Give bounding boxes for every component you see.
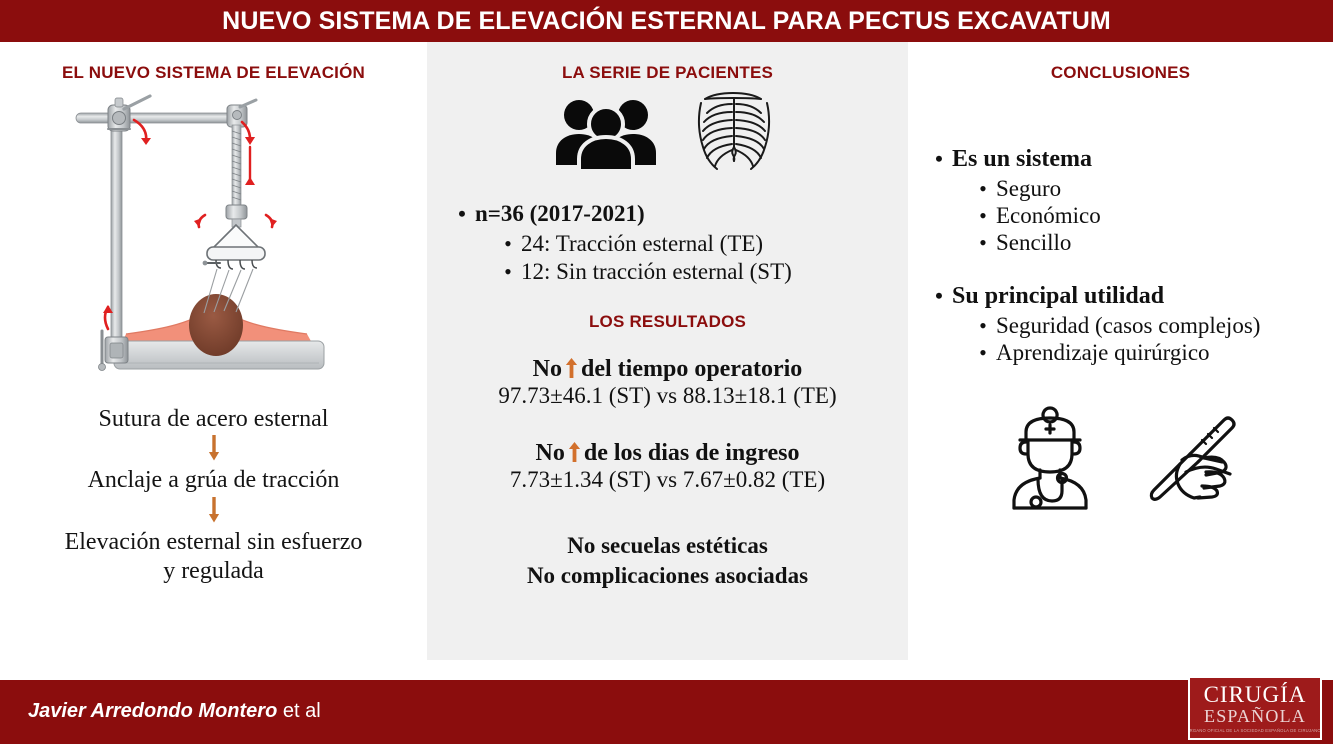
result-block-operative-time: No del tiempo operatorio 97.73±46.1 (ST)… — [427, 356, 908, 410]
result-block-admission-days: No de los dias de ingreso 7.73±1.34 (ST)… — [427, 440, 908, 494]
footer-author: Javier Arredondo Montero et al — [28, 700, 321, 723]
flow-step-2: Anclaje a grúa de tracción — [0, 466, 427, 495]
center-column-heading: LA SERIE DE PACIENTES — [427, 63, 908, 83]
conclusion-level1: • Su principal utilidad — [926, 283, 1333, 310]
series-bullet-level2: • 12: Sin tracción esternal (ST) — [495, 259, 908, 285]
conclusion-level2: • Seguro — [970, 176, 1333, 202]
right-column-heading: CONCLUSIONES — [908, 63, 1333, 83]
author-suffix: et al — [277, 700, 320, 722]
result-suffix: del tiempo operatorio — [581, 356, 802, 382]
series-bullet-level1: • n=36 (2017-2021) — [449, 201, 908, 227]
result-suffix: de los dias de ingreso — [584, 440, 800, 466]
right-column: CONCLUSIONES • Es un sistema • Seguro • … — [908, 42, 1333, 660]
conclusion-level2-label: Seguro — [996, 176, 1061, 202]
series-bullet-level1-label: n=36 (2017-2021) — [475, 201, 645, 227]
logo-line-3: ÓRGANO OFICIAL DE LA SOCIEDAD ESPAÑOLA D… — [1188, 729, 1322, 733]
center-column: LA SERIE DE PACIENTES — [427, 42, 908, 660]
motion-arrows — [105, 120, 272, 329]
conclusion-level2: • Seguridad (casos complejos) — [970, 313, 1333, 339]
sternum-region — [189, 294, 243, 356]
bullet-dot-icon: • — [926, 148, 952, 170]
logo-line-2: ESPAÑOLA — [1204, 707, 1306, 727]
device-diagram-wrap — [0, 91, 427, 391]
logo-line-1: CIRUGÍA — [1204, 683, 1307, 706]
conclusion-level1-label: Su principal utilidad — [952, 283, 1164, 310]
flow-step-1: Sutura de acero esternal — [0, 405, 427, 434]
result-title: No del tiempo operatorio — [427, 356, 908, 382]
conclusion-level2: • Económico — [970, 203, 1333, 229]
flow-step-3-line-2: y regulada — [0, 557, 427, 586]
infographic-slide: NUEVO SISTEMA DE ELEVACIÓN ESTERNAL PARA… — [0, 0, 1333, 744]
surgeon-icon-row — [908, 406, 1333, 510]
bullet-dot-icon: • — [970, 205, 996, 227]
bullet-dot-icon: • — [970, 342, 996, 364]
up-arrow-icon — [564, 356, 579, 382]
bullet-dot-icon: • — [495, 261, 521, 283]
header-bar: NUEVO SISTEMA DE ELEVACIÓN ESTERNAL PARA… — [0, 0, 1333, 42]
result-prefix: No — [533, 356, 562, 382]
series-bullet-level2: • 24: Tracción esternal (TE) — [495, 231, 908, 257]
spreader-yoke — [212, 225, 260, 249]
center-icon-row — [427, 89, 908, 175]
conclusion-level2-label: Económico — [996, 203, 1101, 229]
flow-arrow-1-icon — [0, 435, 427, 465]
conclusion-level2-label: Aprendizaje quirúrgico — [996, 340, 1210, 366]
left-column: EL NUEVO SISTEMA DE ELEVACIÓN — [0, 42, 427, 660]
conclusion-group-1: • Es un sistema • Seguro • Económico • S… — [926, 146, 1333, 256]
hook-cleats — [216, 260, 257, 269]
spreader-bar — [207, 247, 265, 260]
bullet-dot-icon: • — [495, 233, 521, 255]
author-name: Javier Arredondo Montero — [28, 700, 277, 722]
series-bullet-level2-label: 12: Sin tracción esternal (ST) — [521, 259, 792, 285]
closing-line-2: No complicaciones asociadas — [427, 561, 908, 591]
flow-arrow-2-icon — [0, 497, 427, 527]
threaded-rod — [232, 125, 241, 207]
conclusion-level2: • Sencillo — [970, 230, 1333, 256]
conclusion-level2: • Aprendizaje quirúrgico — [970, 340, 1333, 366]
up-arrow-icon — [567, 440, 582, 466]
bullet-dot-icon: • — [970, 178, 996, 200]
flow-step-3-line-1: Elevación esternal sin esfuerzo — [0, 528, 427, 557]
series-bullet-level2-label: 24: Tracción esternal (TE) — [521, 231, 763, 257]
bullet-dot-icon: • — [970, 232, 996, 254]
sternal-elevation-crane-diagram — [64, 91, 364, 391]
result-values: 97.73±46.1 (ST) vs 88.13±18.1 (TE) — [427, 383, 908, 409]
conclusions-wrap: • Es un sistema • Seguro • Económico • S… — [908, 146, 1333, 366]
results-heading: LOS RESULTADOS — [427, 312, 908, 332]
patient-series-bullets: • n=36 (2017-2021) • 24: Tracción estern… — [427, 201, 908, 285]
conclusion-level1-label: Es un sistema — [952, 146, 1092, 173]
hand-scalpel-icon — [1132, 406, 1240, 510]
left-column-heading: EL NUEVO SISTEMA DE ELEVACIÓN — [0, 63, 427, 83]
conclusion-level2-label: Sencillo — [996, 230, 1071, 256]
horizontal-crossbar — [76, 113, 246, 123]
bullet-dot-icon: • — [926, 285, 952, 307]
conclusion-level2-label: Seguridad (casos complejos) — [996, 313, 1260, 339]
closing-line-1: No secuelas estéticas — [427, 531, 908, 561]
center-closing-block: No secuelas estéticas No complicaciones … — [427, 531, 908, 592]
rib-cage-icon — [685, 89, 785, 175]
journal-logo: CIRUGÍA ESPAÑOLA ÓRGANO OFICIAL DE LA SO… — [1188, 676, 1322, 740]
result-values: 7.73±1.34 (ST) vs 7.67±0.82 (TE) — [427, 467, 908, 493]
result-title: No de los dias de ingreso — [427, 440, 908, 466]
bullet-dot-icon: • — [449, 203, 475, 225]
conclusion-level1: • Es un sistema — [926, 146, 1333, 173]
bullet-dot-icon: • — [970, 315, 996, 337]
conclusion-group-2: • Su principal utilidad • Seguridad (cas… — [926, 283, 1333, 366]
surgeon-icon — [1002, 406, 1098, 510]
result-prefix: No — [536, 440, 565, 466]
left-flow-list: Sutura de acero esternal Anclaje a grúa … — [0, 405, 427, 586]
people-group-icon — [551, 93, 661, 171]
page-title: NUEVO SISTEMA DE ELEVACIÓN ESTERNAL PARA… — [222, 7, 1111, 36]
vertical-post — [111, 116, 122, 344]
